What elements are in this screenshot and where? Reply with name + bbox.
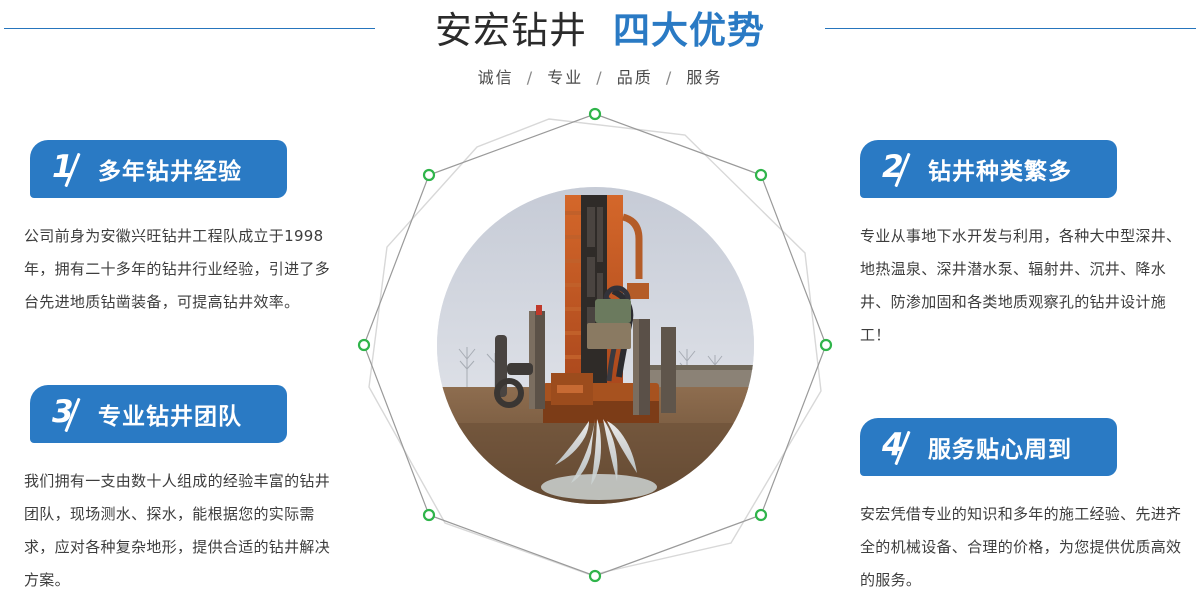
drill-rig-photo [437,187,754,504]
node-top-right [756,170,766,180]
number-glyph: 4 [882,425,904,465]
subtitle-item-2: 专业 [547,68,583,87]
title-primary: 安宏钻井 [435,9,587,52]
feature-body-1: 公司前身为安徽兴旺钻井工程队成立于1998年，拥有二十多年的钻井行业经验，引进了… [24,220,336,319]
subtitle-separator-1: / [527,68,534,87]
feature-banner-2[interactable]: 2 钻井种类繁多 [860,140,1117,198]
node-top-left [424,170,434,180]
subtitle-item-4: 服务 [686,68,722,87]
subtitle: 诚信 / 专业 / 品质 / 服务 [0,64,1200,88]
number-glyph: 2 [882,147,904,187]
title-accent: 四大优势 [613,9,765,52]
number-1-icon: 1 [52,149,92,189]
node-bottom-left [424,510,434,520]
feature-banner-3[interactable]: 3 专业钻井团队 [30,385,287,443]
number-glyph: 3 [52,392,74,432]
feature-item-1: 1 多年钻井经验 公司前身为安徽兴旺钻井工程队成立于1998年，拥有二十多年的钻… [0,140,340,319]
node-bottom [590,571,600,581]
number-glyph: 1 [52,147,74,187]
feature-banner-4[interactable]: 4 服务贴心周到 [860,418,1117,476]
feature-banner-1[interactable]: 1 多年钻井经验 [30,140,287,198]
feature-title-2: 钻井种类繁多 [928,152,1072,186]
feature-column-right: 2 钻井种类繁多 专业从事地下水开发与利用，各种大中型深井、地热温泉、深井潜水泵… [840,140,1180,612]
page-title: 安宏钻井四大优势 [0,12,1200,49]
feature-item-4: 4 服务贴心周到 安宏凭借专业的知识和多年的施工经验、先进齐全的机械设备、合理的… [840,418,1180,597]
subtitle-item-1: 诚信 [478,68,514,87]
number-3-icon: 3 [52,394,92,434]
node-right [821,340,831,350]
node-top [590,109,600,119]
number-4-icon: 4 [882,427,922,467]
feature-column-left: 1 多年钻井经验 公司前身为安徽兴旺钻井工程队成立于1998年，拥有二十多年的钻… [0,140,340,612]
feature-body-4: 安宏凭借专业的知识和多年的施工经验、先进齐全的机械设备、合理的价格，为您提供优质… [860,498,1182,597]
node-left [359,340,369,350]
drill-rig-illustration [437,187,754,504]
feature-item-3: 3 专业钻井团队 我们拥有一支由数十人组成的经验丰富的钻井团队，现场测水、探水，… [0,385,340,597]
feature-title-3: 专业钻井团队 [98,397,242,431]
number-2-icon: 2 [882,149,922,189]
page-header: 安宏钻井四大优势 诚信 / 专业 / 品质 / 服务 [0,0,1200,110]
feature-title-4: 服务贴心周到 [928,430,1072,464]
subtitle-separator-3: / [666,68,673,87]
subtitle-separator-2: / [596,68,603,87]
feature-title-1: 多年钻井经验 [98,152,242,186]
feature-body-3: 我们拥有一支由数十人组成的经验丰富的钻井团队，现场测水、探水，能根据您的实际需求… [24,465,336,597]
center-graphic [355,105,835,585]
node-bottom-right [756,510,766,520]
subtitle-item-3: 品质 [617,68,653,87]
feature-item-2: 2 钻井种类繁多 专业从事地下水开发与利用，各种大中型深井、地热温泉、深井潜水泵… [840,140,1180,352]
advantages-banner: 安宏钻井四大优势 诚信 / 专业 / 品质 / 服务 1 多年钻井经验 公司前身… [0,0,1200,600]
feature-body-2: 专业从事地下水开发与利用，各种大中型深井、地热温泉、深井潜水泵、辐射井、沉井、降… [860,220,1182,352]
